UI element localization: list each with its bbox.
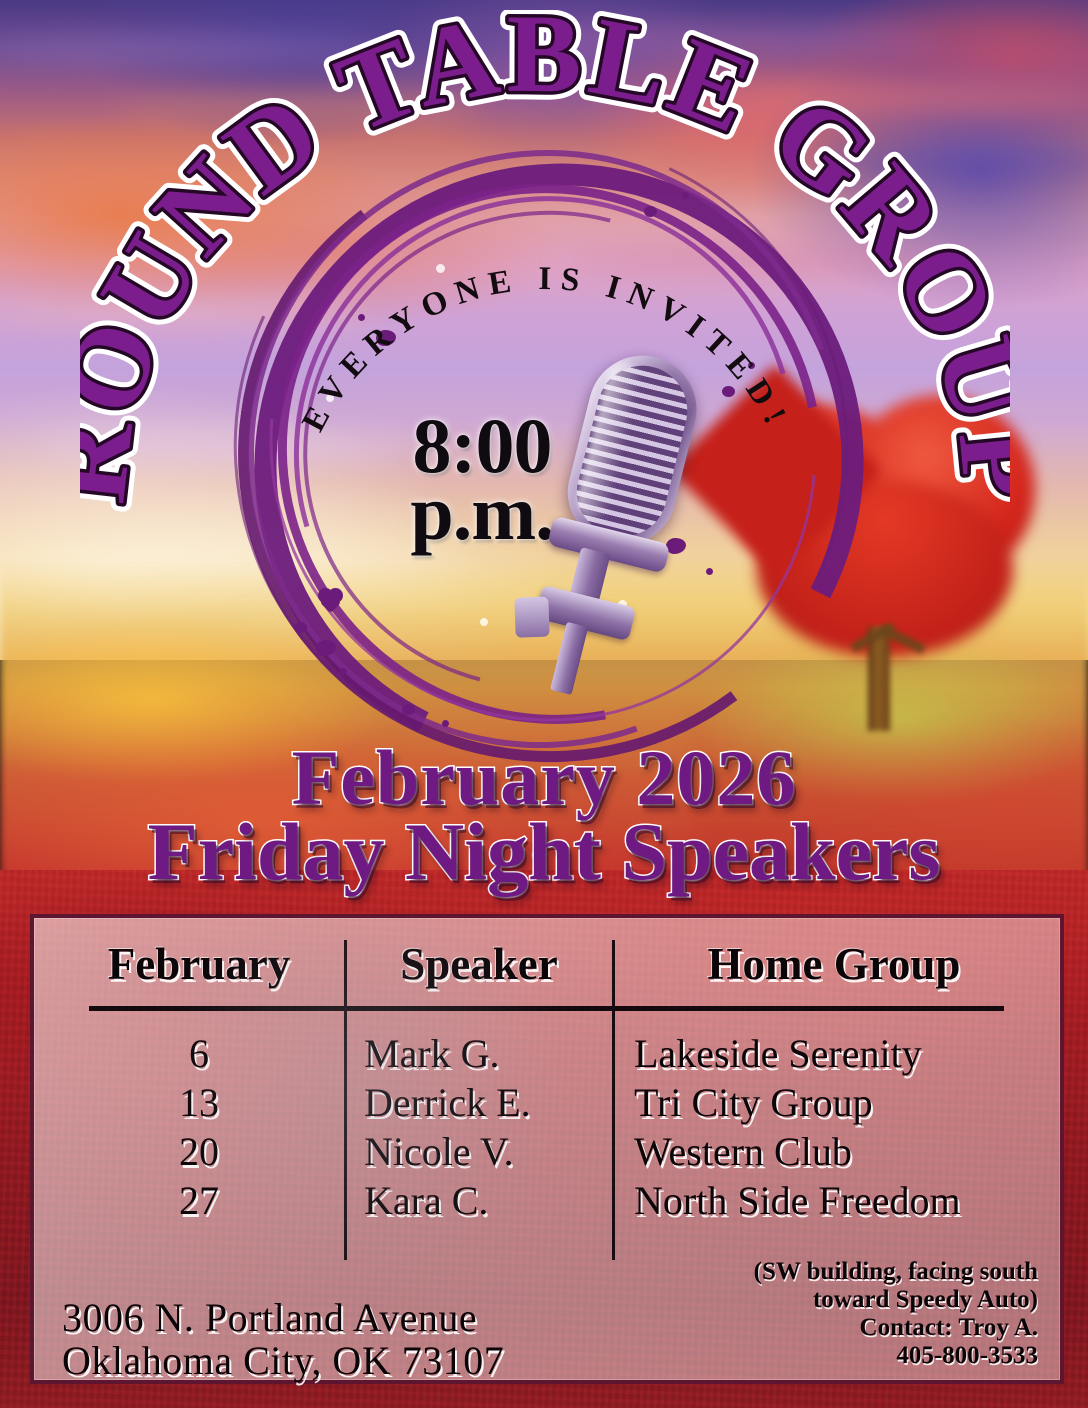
row-date: 13 <box>64 1079 334 1126</box>
contact-name: Contact: Troy A. <box>518 1314 1038 1342</box>
address-line-1: 3006 N. Portland Avenue <box>62 1296 504 1339</box>
location-note-line-1: (SW building, facing south <box>518 1258 1038 1286</box>
schedule-rows: 6 Mark G. Lakeside Serenity 13 Derrick E… <box>34 1030 1052 1226</box>
row-group: Lakeside Serenity <box>634 1030 922 1077</box>
contact-phone: 405-800-3533 <box>518 1342 1038 1370</box>
table-row: 6 Mark G. Lakeside Serenity <box>34 1030 1052 1079</box>
row-date: 20 <box>64 1128 334 1175</box>
row-speaker: Kara C. <box>364 1177 488 1224</box>
headline-subtitle: Friday Night Speakers <box>0 814 1088 889</box>
row-speaker: Derrick E. <box>364 1079 531 1126</box>
row-date: 6 <box>64 1030 334 1077</box>
contact-block: (SW building, facing south toward Speedy… <box>518 1258 1038 1370</box>
column-header-february: February <box>64 938 334 990</box>
table-row: 13 Derrick E. Tri City Group <box>34 1079 1052 1128</box>
row-group: Tri City Group <box>634 1079 873 1126</box>
address-line-2: Oklahoma City, OK 73107 <box>62 1339 504 1382</box>
flyer-canvas: ROUND TABLE GROUP ROUND TABLE GROUP ROUN… <box>0 0 1088 1408</box>
row-group: Western Club <box>634 1128 852 1175</box>
row-speaker: Nicole V. <box>364 1128 514 1175</box>
schedule-panel: February Speaker Home Group 6 Mark G. La… <box>30 914 1064 1384</box>
row-group: North Side Freedom <box>634 1177 961 1224</box>
table-row: 27 Kara C. North Side Freedom <box>34 1177 1052 1226</box>
column-header-home-group: Home Group <box>624 938 1044 990</box>
speaker-schedule-table: February Speaker Home Group 6 Mark G. La… <box>34 918 1052 1372</box>
header-divider <box>89 1006 1004 1011</box>
logo-group: ROUND TABLE GROUP ROUND TABLE GROUP ROUN… <box>0 0 1088 760</box>
location-note-line-2: toward Speedy Auto) <box>518 1286 1038 1314</box>
headline-month-year: February 2026 <box>0 742 1088 814</box>
event-headline: February 2026 Friday Night Speakers <box>0 742 1088 889</box>
venue-address: 3006 N. Portland Avenue Oklahoma City, O… <box>62 1296 504 1382</box>
column-header-speaker: Speaker <box>352 938 606 990</box>
row-speaker: Mark G. <box>364 1030 500 1077</box>
row-date: 27 <box>64 1177 334 1224</box>
table-row: 20 Nicole V. Western Club <box>34 1128 1052 1177</box>
